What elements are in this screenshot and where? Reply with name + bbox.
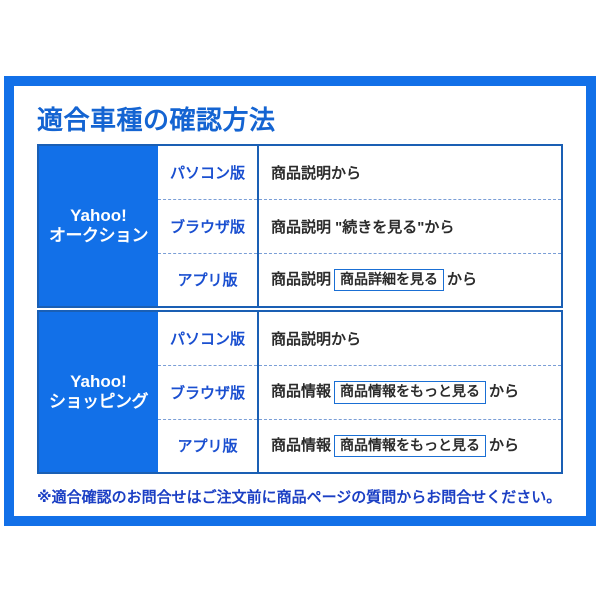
table-row: Yahoo! ショッピング パソコン版 商品説明から [38,311,562,365]
desc-text-after: から [489,437,519,454]
boxed-button-label[interactable]: 商品情報をもっと見る [334,381,486,404]
desc-text-after: から [447,271,477,288]
device-label-browser: ブラウザ版 [158,199,258,253]
desc-text-before: 商品説明から [271,331,361,348]
desc-cell-shopping-pc: 商品説明から [258,311,562,365]
info-card-inner: 適合車種の確認方法 Yahoo! オークション パソコン版 商品説明から ブラウ… [14,86,586,516]
desc-cell-shopping-app: 商品情報商品情報をもっと見るから [258,419,562,473]
device-label-app: アプリ版 [158,253,258,307]
brand-label-line2: ショッピング [39,392,158,412]
brand-cell-auction: Yahoo! オークション [38,145,158,307]
compatibility-table: Yahoo! オークション パソコン版 商品説明から ブラウザ版 商品説明 "続… [37,144,563,474]
desc-text-before: 商品情報 [271,383,331,400]
device-label-pc: パソコン版 [158,311,258,365]
desc-cell-auction-pc: 商品説明から [258,145,562,199]
desc-cell-auction-browser: 商品説明 "続きを見る"から [258,199,562,253]
footer-note: ※適合確認のお問合せはご注文前に商品ページの質問からお問合せください。 [37,486,561,507]
brand-cell-shopping: Yahoo! ショッピング [38,311,158,473]
brand-label-line1: Yahoo! [39,372,158,392]
info-card-frame: 適合車種の確認方法 Yahoo! オークション パソコン版 商品説明から ブラウ… [4,76,596,526]
brand-label-line2: オークション [39,226,158,246]
desc-text-before: 商品説明 "続きを見る"から [271,219,454,236]
device-label-app: アプリ版 [158,419,258,473]
desc-text-before: 商品説明から [271,165,361,182]
brand-label-line1: Yahoo! [39,206,158,226]
desc-cell-auction-app: 商品説明商品詳細を見るから [258,253,562,307]
boxed-button-label[interactable]: 商品詳細を見る [334,269,444,292]
device-label-pc: パソコン版 [158,145,258,199]
device-label-browser: ブラウザ版 [158,365,258,419]
desc-text-before: 商品情報 [271,437,331,454]
table-row: Yahoo! オークション パソコン版 商品説明から [38,145,562,199]
desc-text-before: 商品説明 [271,271,331,288]
desc-text-after: から [489,383,519,400]
desc-cell-shopping-browser: 商品情報商品情報をもっと見るから [258,365,562,419]
page-title: 適合車種の確認方法 [37,100,276,137]
boxed-button-label[interactable]: 商品情報をもっと見る [334,435,486,458]
